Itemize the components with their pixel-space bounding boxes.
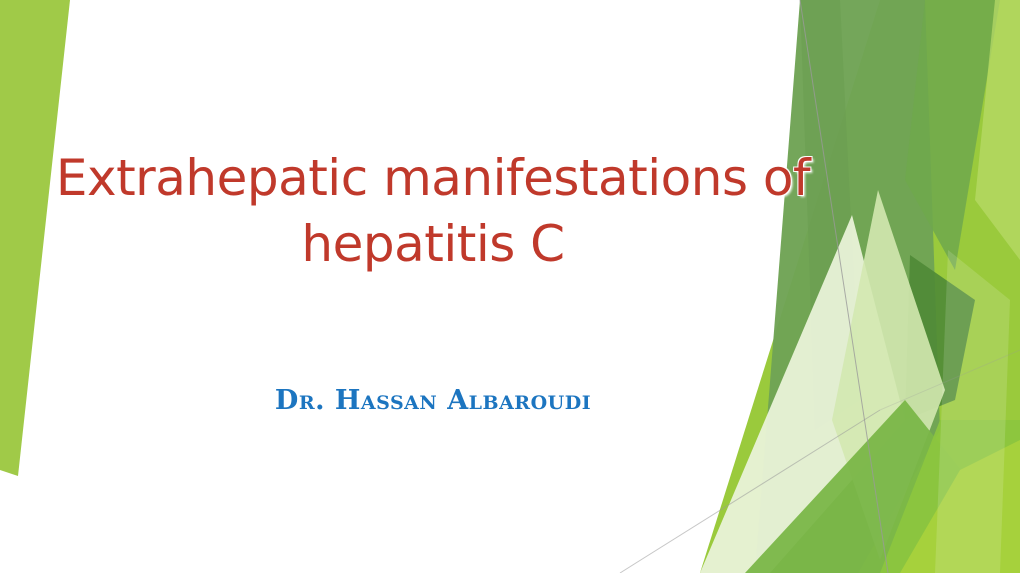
slide-author-subtitle: Dr. Hassan Albaroudi xyxy=(48,385,818,416)
page-title: Extrahepatic manifestations of hepatitis… xyxy=(48,145,818,277)
slide-text-layer: Extrahepatic manifestations of hepatitis… xyxy=(0,0,1020,573)
presentation-slide: Extrahepatic manifestations of hepatitis… xyxy=(0,0,1020,573)
